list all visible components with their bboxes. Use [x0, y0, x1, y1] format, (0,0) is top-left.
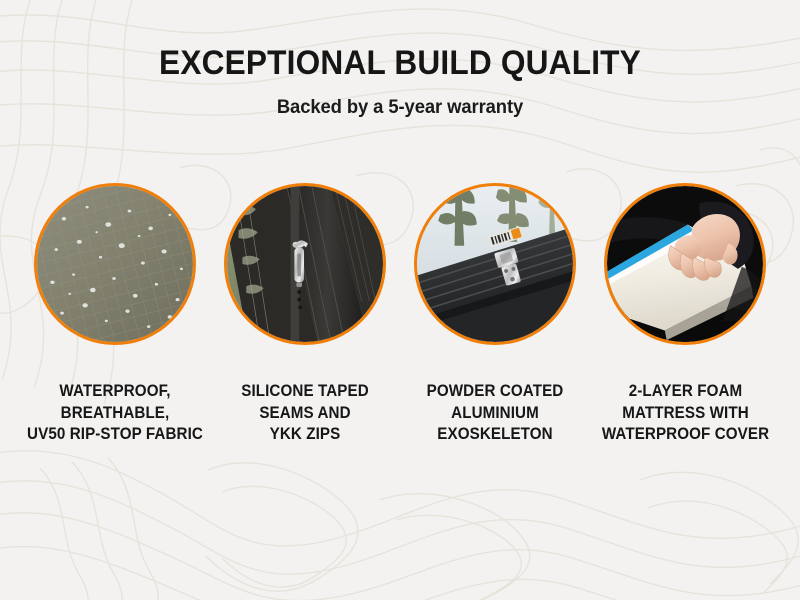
feature-image-circle-foam-mattress	[604, 183, 766, 345]
feature-list: WATERPROOF, BREATHABLE, UV50 RIP-STOP FA…	[0, 183, 800, 446]
foam-mattress-hand-photo	[607, 186, 763, 342]
ripstop-fabric-water-beading-photo	[37, 186, 193, 342]
feature-caption: 2-LAYER FOAM MATTRESS WITH WATERPROOF CO…	[586, 381, 784, 446]
feature-caption: SILICONE TAPED SEAMS AND YKK ZIPS	[213, 381, 397, 446]
feature-image-circle-aluminium-exoskeleton	[414, 183, 576, 345]
feature-item-foam-mattress: 2-LAYER FOAM MATTRESS WITH WATERPROOF CO…	[603, 183, 768, 446]
page-title: EXCEPTIONAL BUILD QUALITY	[28, 0, 772, 82]
feature-image-circle-waterproof-fabric	[34, 183, 196, 345]
aluminium-shell-latch-photo	[417, 186, 573, 342]
zipper-taped-seam-photo	[227, 186, 383, 342]
page-subtitle: Backed by a 5-year warranty	[12, 82, 788, 119]
feature-poster: EXCEPTIONAL BUILD QUALITY Backed by a 5-…	[0, 0, 800, 600]
feature-image-circle-taped-seams-zips	[224, 183, 386, 345]
feature-item-taped-seams-zips: SILICONE TAPED SEAMS AND YKK ZIPS	[223, 183, 388, 446]
feature-item-aluminium-exoskeleton: POWDER COATED ALUMINIUM EXOSKELETON	[413, 183, 578, 446]
feature-item-waterproof-fabric: WATERPROOF, BREATHABLE, UV50 RIP-STOP FA…	[33, 183, 198, 446]
feature-caption: POWDER COATED ALUMINIUM EXOSKELETON	[403, 381, 587, 446]
poster-header: EXCEPTIONAL BUILD QUALITY Backed by a 5-…	[0, 0, 800, 119]
feature-caption: WATERPROOF, BREATHABLE, UV50 RIP-STOP FA…	[18, 381, 211, 446]
